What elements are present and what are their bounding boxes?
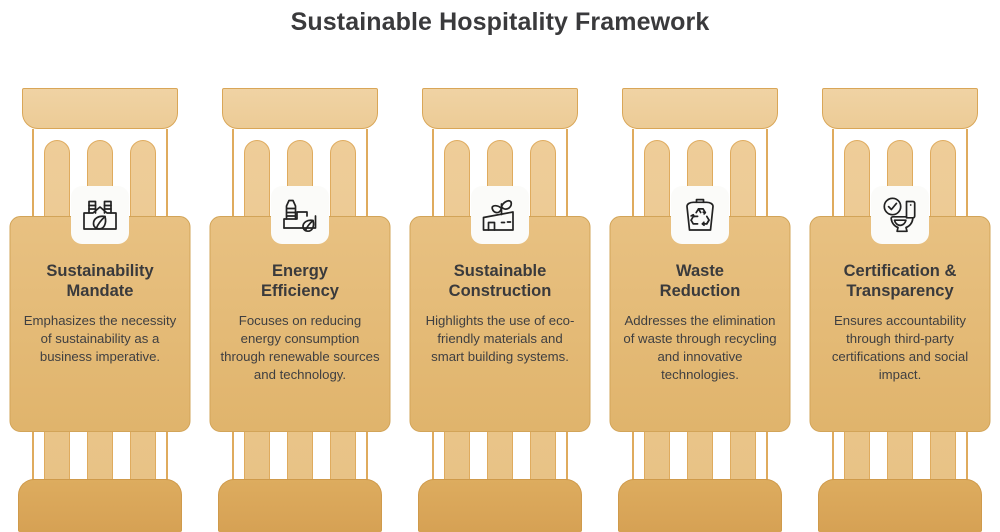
pillar-title-line-2: Reduction [660, 282, 741, 300]
toilet-check-icon [871, 186, 929, 244]
pillar-title: Waste Reduction [620, 261, 781, 301]
pillar-card[interactable]: Sustainability Mandate Emphasizes the ne… [10, 216, 191, 432]
pillar-card[interactable]: Certification & Transparency Ensures acc… [810, 216, 991, 432]
pillar-card[interactable]: Sustainable Construction Highlights the … [410, 216, 591, 432]
infographic-canvas: Sustainable Hospitality Framework Sustai… [0, 0, 1000, 532]
pillar-description: Focuses on reducing energy consumption t… [220, 312, 381, 384]
pillar-capital [622, 88, 778, 129]
pillar-sustainability-mandate[interactable]: Sustainability Mandate Emphasizes the ne… [0, 88, 200, 532]
pillar-sustainable-construction[interactable]: Sustainable Construction Highlights the … [400, 88, 600, 532]
building-sprout-icon [471, 186, 529, 244]
pillar-capital [422, 88, 578, 129]
pillar-title-line-1: Sustainable [454, 262, 547, 280]
page-title: Sustainable Hospitality Framework [0, 8, 1000, 37]
factory-smokestack-leaf-icon [271, 186, 329, 244]
pillar-title-line-1: Waste [676, 262, 724, 280]
pillar-title-line-2: Transparency [846, 282, 953, 300]
pillar-base [218, 479, 382, 532]
pillar-title: Certification & Transparency [820, 261, 981, 301]
pillar-base [818, 479, 982, 532]
pillar-title-line-1: Sustainability [46, 262, 153, 280]
pillar-capital [222, 88, 378, 129]
pillar-title: Sustainable Construction [420, 261, 581, 301]
pillar-title-line-2: Efficiency [261, 282, 339, 300]
pillar-card[interactable]: Waste Reduction Addresses the eliminatio… [610, 216, 791, 432]
pillar-title-line-1: Certification & [844, 262, 957, 280]
pillar-capital [22, 88, 178, 129]
pillar-description: Ensures accountability through third-par… [820, 312, 981, 384]
pillar-waste-reduction[interactable]: Waste Reduction Addresses the eliminatio… [600, 88, 800, 532]
pillar-title-line-2: Mandate [67, 282, 134, 300]
pillar-energy-efficiency[interactable]: Energy Efficiency Focuses on reducing en… [200, 88, 400, 532]
pillar-certification-transparency[interactable]: Certification & Transparency Ensures acc… [800, 88, 1000, 532]
factory-leaf-icon [71, 186, 129, 244]
pillar-description: Addresses the elimination of waste throu… [620, 312, 781, 384]
pillar-base [618, 479, 782, 532]
pillar-title: Sustainability Mandate [20, 261, 181, 301]
pillar-card[interactable]: Energy Efficiency Focuses on reducing en… [210, 216, 391, 432]
pillar-base [18, 479, 182, 532]
pillar-capital [822, 88, 978, 129]
recycle-bin-icon [671, 186, 729, 244]
pillar-title-line-1: Energy [272, 262, 328, 280]
pillar-row: Sustainability Mandate Emphasizes the ne… [0, 88, 1000, 532]
pillar-description: Emphasizes the necessity of sustainabili… [20, 312, 181, 366]
pillar-title-line-2: Construction [449, 282, 552, 300]
pillar-title: Energy Efficiency [220, 261, 381, 301]
pillar-description: Highlights the use of eco-friendly mater… [420, 312, 581, 366]
pillar-base [418, 479, 582, 532]
